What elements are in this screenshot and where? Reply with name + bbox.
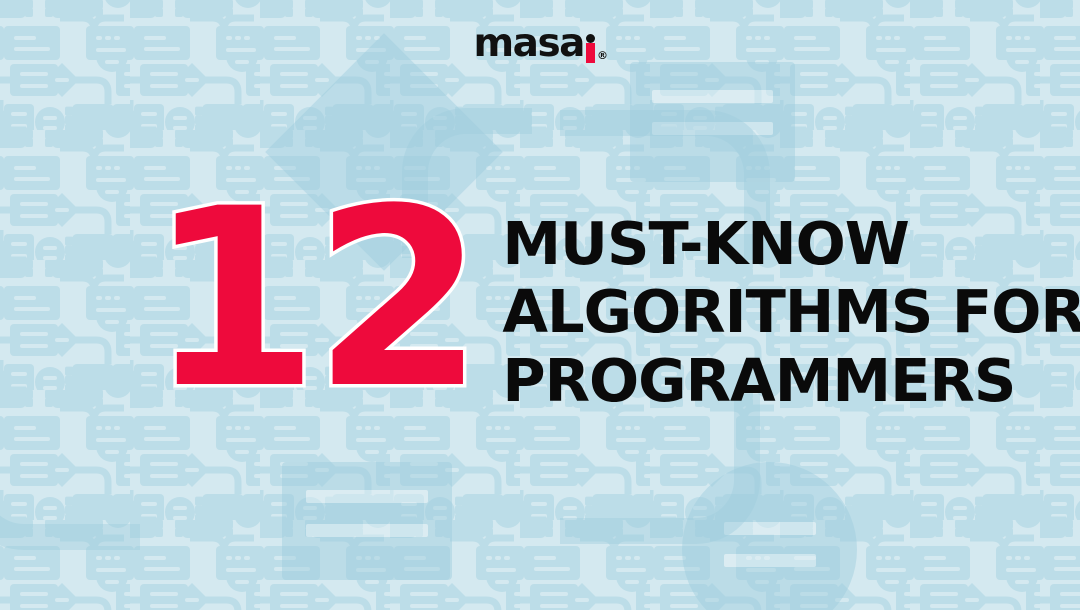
watermark-line [724, 554, 816, 567]
headline-block: 12 MUST-KNOW ALGORITHMS FOR PROGRAMMERS [148, 198, 1080, 415]
registered-trademark-symbol: ® [597, 50, 607, 61]
watermark-connector-pipe-icon [560, 394, 760, 544]
brand-logo-i-letter [586, 36, 595, 63]
brand-logo: masa ® [0, 24, 1080, 63]
headline-lines: MUST-KNOW ALGORITHMS FOR PROGRAMMERS [502, 210, 1080, 415]
headline-line-2: ALGORITHMS FOR [502, 278, 1080, 346]
watermark-connector-pipe-icon [0, 400, 140, 550]
brand-logo-i-dot [586, 34, 595, 43]
headline-line-1: MUST-KNOW [502, 210, 1080, 278]
banner-canvas: masa ® 12 MUST-KNOW ALGORITHMS FOR PROGR… [0, 0, 1080, 610]
watermark-line [306, 490, 428, 503]
brand-logo-wordmark: masa ® [474, 24, 607, 63]
watermark-document-node-icon [282, 462, 452, 580]
watermark-line [652, 90, 773, 103]
brand-logo-text: masa [474, 24, 585, 63]
watermark-line [306, 524, 428, 537]
headline-line-3: PROGRAMMERS [502, 347, 1080, 415]
headline-number: 12 [148, 202, 478, 399]
brand-logo-i-stem [586, 43, 595, 63]
